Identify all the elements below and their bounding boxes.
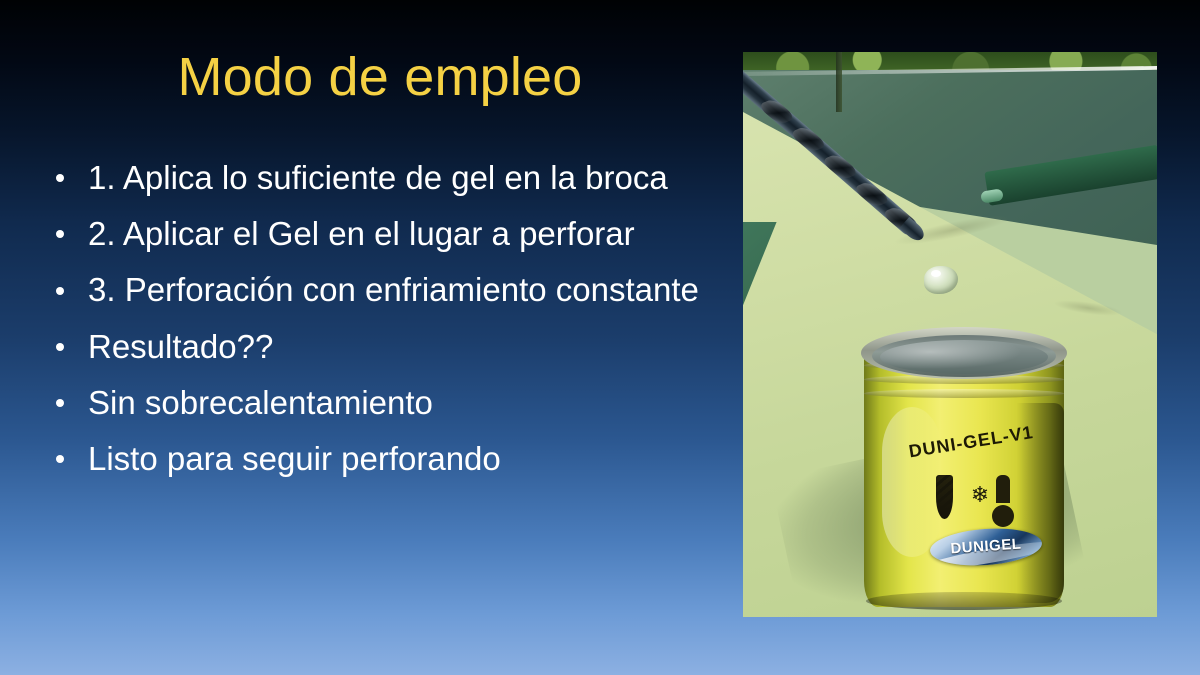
list-item-label: Resultado??: [88, 328, 273, 365]
bullet-list: 1. Aplica lo suficiente de gel en la bro…: [46, 157, 726, 480]
list-item-label: 1. Aplica lo suficiente de gel en la bro…: [88, 159, 668, 196]
drill-bit-pictogram-icon: [936, 475, 953, 519]
photo-post: [836, 52, 842, 112]
gel-droplet-highlight: [931, 270, 941, 277]
bullet-point-icon: [56, 455, 64, 463]
list-item: Sin sobrecalentamiento: [46, 382, 726, 424]
list-item: Resultado??: [46, 326, 726, 368]
jar-gel-contents: [880, 340, 1048, 374]
list-item: 2. Aplicar el Gel en el lugar a perforar: [46, 213, 726, 255]
list-item-label: 3. Perforación con enfriamiento constant…: [88, 271, 699, 308]
list-item: Listo para seguir perforando: [46, 438, 726, 480]
thermometer-bulb-icon: [992, 505, 1014, 527]
bullet-point-icon: [56, 343, 64, 351]
gel-jar: DUNI-GEL-V1 ❄ DUNIGEL: [864, 307, 1064, 612]
bullet-point-icon: [56, 399, 64, 407]
list-item-label: Listo para seguir perforando: [88, 440, 501, 477]
list-item-label: 2. Aplicar el Gel en el lugar a perforar: [88, 215, 635, 252]
jar-base: [866, 592, 1062, 610]
bullet-point-icon: [56, 174, 64, 182]
presentation-slide: Modo de empleo 1. Aplica lo suficiente d…: [0, 0, 1200, 675]
jar-ring: [864, 389, 1064, 398]
list-item: 3. Perforación con enfriamiento constant…: [46, 269, 726, 311]
list-item-label: Sin sobrecalentamiento: [88, 384, 433, 421]
slide-photo: DUNI-GEL-V1 ❄ DUNIGEL: [743, 52, 1157, 617]
page-title: Modo de empleo: [40, 48, 720, 107]
snowflake-icon: ❄: [968, 483, 992, 507]
jar-highlight: [882, 407, 942, 557]
bullet-point-icon: [56, 230, 64, 238]
list-item: 1. Aplica lo suficiente de gel en la bro…: [46, 157, 726, 199]
bullet-point-icon: [56, 287, 64, 295]
